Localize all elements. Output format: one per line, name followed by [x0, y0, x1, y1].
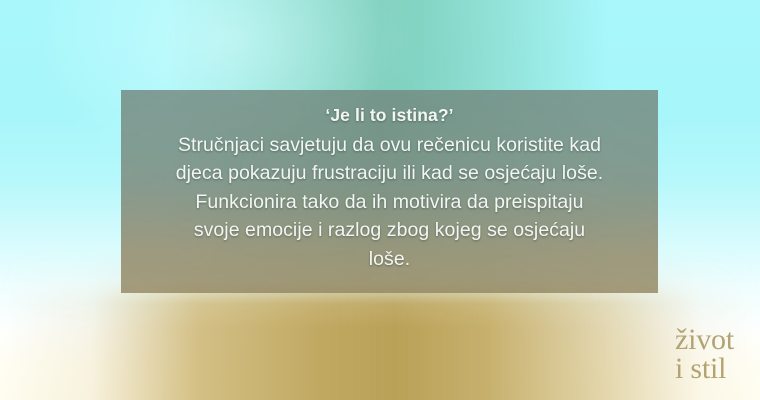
caption-line-3: Funkcionira tako da ih motivira da preis…: [135, 188, 644, 217]
caption-title: ‘Je li to istina?’: [135, 104, 644, 127]
caption-panel: ‘Je li to istina?’ Stručnjaci savjetuju …: [121, 90, 658, 293]
caption-line-5: loše.: [135, 245, 644, 274]
caption-content: ‘Je li to istina?’ Stručnjaci savjetuju …: [135, 104, 644, 273]
caption-line-4: svoje emocije i razlog zbog kojeg se osj…: [135, 216, 644, 245]
brand-logo-line-2: i stil: [675, 355, 734, 384]
caption-line-1: Stručnjaci savjetuju da ovu rečenicu kor…: [135, 131, 644, 160]
brand-logo-line-1: život: [675, 326, 734, 355]
quote-card: ‘Je li to istina?’ Stručnjaci savjetuju …: [0, 0, 760, 400]
caption-line-2: djeca pokazuju frustraciju ili kad se os…: [135, 159, 644, 188]
brand-logo: život i stil: [675, 326, 734, 384]
